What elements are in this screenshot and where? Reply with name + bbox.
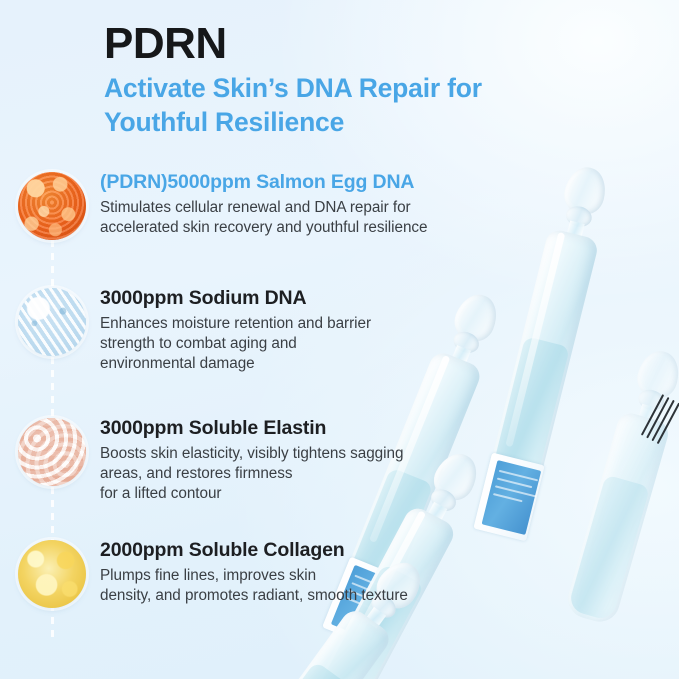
- elastin-fiber-icon: [18, 418, 86, 486]
- pdrn-product-infographic: PDRN Activate Skin’s DNA Repair for Yout…: [0, 0, 679, 679]
- ingredient-title: 3000ppm Soluble Elastin: [100, 416, 550, 440]
- ingredient-title: 2000ppm Soluble Collagen: [100, 538, 550, 562]
- ingredient-description: Plumps fine lines, improves skin density…: [100, 566, 550, 606]
- ingredient-title: 3000ppm Sodium DNA: [100, 286, 550, 310]
- ingredient-description: Enhances moisture retention and barrier …: [100, 314, 550, 374]
- collagen-droplet-icon: [18, 540, 86, 608]
- ingredient-title: (PDRN)5000ppm Salmon Egg DNA: [100, 170, 550, 194]
- salmon-roe-icon: [18, 172, 86, 240]
- ingredient-description: Stimulates cellular renewal and DNA repa…: [100, 198, 550, 238]
- dna-helix-icon: [18, 288, 86, 356]
- ingredient-list: (PDRN)5000ppm Salmon Egg DNA Stimulates …: [0, 0, 679, 679]
- ingredient-description: Boosts skin elasticity, visibly tightens…: [100, 444, 550, 504]
